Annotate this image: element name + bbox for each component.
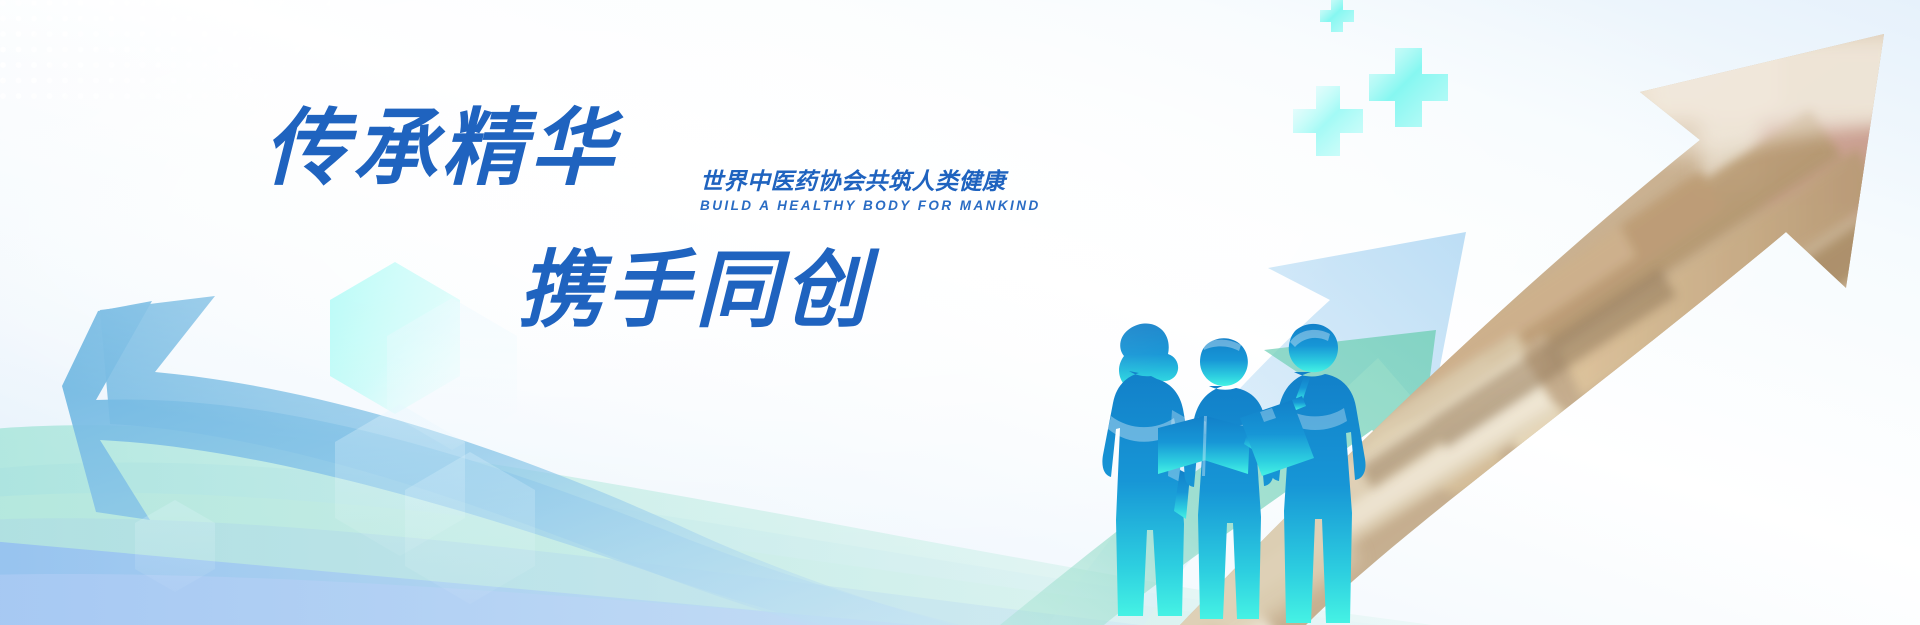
headline-line-2: 携手同创	[518, 250, 872, 334]
doctor-with-clipboard-pen	[1240, 324, 1366, 623]
doctor-holding-open-book	[1158, 338, 1274, 619]
hexagon-pale-lower	[335, 404, 465, 556]
swoosh-teal-1	[0, 425, 1920, 625]
tcm-health-banner: 传承精华 携手同创 世界中医药协会共筑人类健康 BUILD A HEALTHY …	[0, 0, 1920, 625]
herb-photo-fill	[1020, 0, 1920, 625]
medical-cross-medium	[1293, 86, 1363, 156]
swoosh-blue-2	[0, 574, 1920, 625]
subtitle-chinese: 世界中医药协会共筑人类健康	[700, 168, 1040, 195]
medical-cross-small	[1320, 0, 1354, 32]
hexagon-pale-bottom	[405, 452, 535, 604]
subtitle-english: BUILD A HEALTHY BODY FOR MANKIND	[700, 198, 1040, 213]
headline-block: 传承精华 携手同创 世界中医药协会共筑人类健康 BUILD A HEALTHY …	[0, 0, 1100, 380]
arrow-pale-mid-shape	[1048, 232, 1466, 625]
doctor-arms-crossed-lab-coat	[1102, 323, 1192, 616]
swoosh-blue-1	[0, 518, 1920, 625]
swoosh-pale-1	[0, 463, 1920, 625]
medical-cross-large	[1369, 48, 1448, 127]
headline-line-1: 传承精华	[264, 108, 618, 192]
hexagon-pale-far-left	[135, 500, 215, 592]
subtitle-block: 世界中医药协会共筑人类健康 BUILD A HEALTHY BODY FOR M…	[700, 168, 1040, 213]
swoosh-teal-2	[0, 493, 1920, 625]
